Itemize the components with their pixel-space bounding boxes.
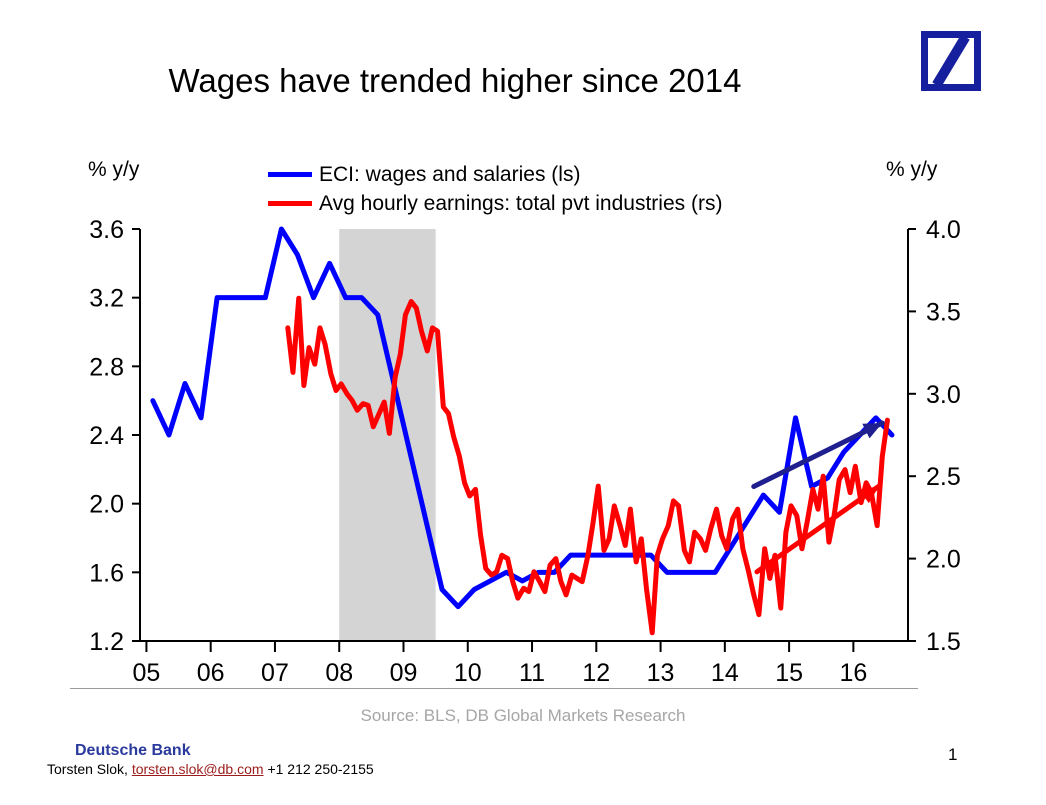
- axis-lines: [140, 229, 908, 641]
- series-line: [153, 229, 892, 607]
- xtick-label: 06: [197, 659, 225, 687]
- chart-plot-area: 1.21.62.02.42.83.23.61.52.02.53.03.54.00…: [0, 0, 1046, 805]
- blue-trend-arrow-head: [862, 423, 882, 438]
- legend-label-ahe: Avg hourly earnings: total pvt industrie…: [319, 192, 722, 216]
- series-line: [288, 298, 888, 633]
- shaded-regions: [339, 229, 435, 641]
- legend-swatch-ahe: [268, 201, 312, 206]
- footer-divider: [70, 688, 918, 689]
- axis-ticks: [132, 229, 916, 652]
- logo-slash: [932, 38, 969, 84]
- left-ytick-label: 3.6: [89, 216, 124, 244]
- red-trend-arrow: [757, 486, 879, 572]
- left-ytick-label: 1.2: [89, 628, 124, 656]
- legend-item-eci: ECI: wages and salaries (ls): [268, 160, 722, 189]
- xtick-label: 09: [390, 659, 418, 687]
- xtick-label: 16: [839, 659, 867, 687]
- page-title: Wages have trended higher since 2014: [0, 62, 910, 100]
- right-ytick-label: 4.0: [926, 216, 961, 244]
- contact-email-link[interactable]: torsten.slok@db.com: [132, 761, 264, 777]
- right-ytick-label: 2.5: [926, 463, 961, 491]
- contact-line: Torsten Slok, torsten.slok@db.com +1 212…: [47, 761, 374, 777]
- tick-labels: 1.21.62.02.42.83.23.61.52.02.53.03.54.00…: [89, 216, 961, 687]
- xtick-label: 11: [519, 659, 545, 687]
- trend-arrows: [754, 423, 883, 572]
- xtick-label: 05: [133, 659, 161, 687]
- left-ytick-label: 2.4: [89, 422, 124, 450]
- contact-phone: +1 212 250-2155: [267, 761, 373, 777]
- chart-svg: 1.21.62.02.42.83.23.61.52.02.53.03.54.00…: [0, 0, 1046, 805]
- bank-name: Deutsche Bank: [75, 742, 191, 760]
- right-ytick-label: 3.0: [926, 381, 961, 409]
- xtick-label: 08: [325, 659, 353, 687]
- left-ytick-label: 2.0: [89, 491, 124, 519]
- xtick-label: 14: [711, 659, 739, 687]
- left-ytick-label: 3.2: [89, 285, 124, 313]
- contact-name: Torsten Slok,: [47, 761, 128, 777]
- chart-legend: ECI: wages and salaries (ls) Avg hourly …: [268, 160, 722, 218]
- slide-canvas: Wages have trended higher since 2014 % y…: [0, 0, 1046, 805]
- blue-trend-arrow: [754, 423, 883, 487]
- legend-swatch-eci: [268, 172, 312, 177]
- right-ytick-label: 2.0: [926, 546, 961, 574]
- red-trend-arrow-head: [859, 486, 879, 503]
- legend-label-eci: ECI: wages and salaries (ls): [319, 163, 580, 187]
- legend-item-ahe: Avg hourly earnings: total pvt industrie…: [268, 189, 722, 218]
- right-ytick-label: 1.5: [926, 628, 961, 656]
- page-number: 1: [948, 745, 957, 765]
- source-note: Source: BLS, DB Global Markets Research: [0, 706, 1046, 726]
- left-ytick-label: 1.6: [89, 559, 124, 587]
- xtick-label: 12: [582, 659, 610, 687]
- xtick-label: 07: [261, 659, 289, 687]
- right-axis-unit-label: % y/y: [886, 158, 937, 182]
- left-ytick-label: 2.8: [89, 353, 124, 381]
- right-ytick-label: 3.5: [926, 298, 961, 326]
- series-lines: [153, 229, 892, 633]
- deutsche-bank-logo: [921, 31, 981, 91]
- logo-inner: [928, 38, 974, 84]
- recession-band: [339, 229, 435, 641]
- left-axis-unit-label: % y/y: [88, 158, 139, 182]
- xtick-label: 10: [454, 659, 482, 687]
- xtick-label: 15: [775, 659, 803, 687]
- xtick-label: 13: [647, 659, 675, 687]
